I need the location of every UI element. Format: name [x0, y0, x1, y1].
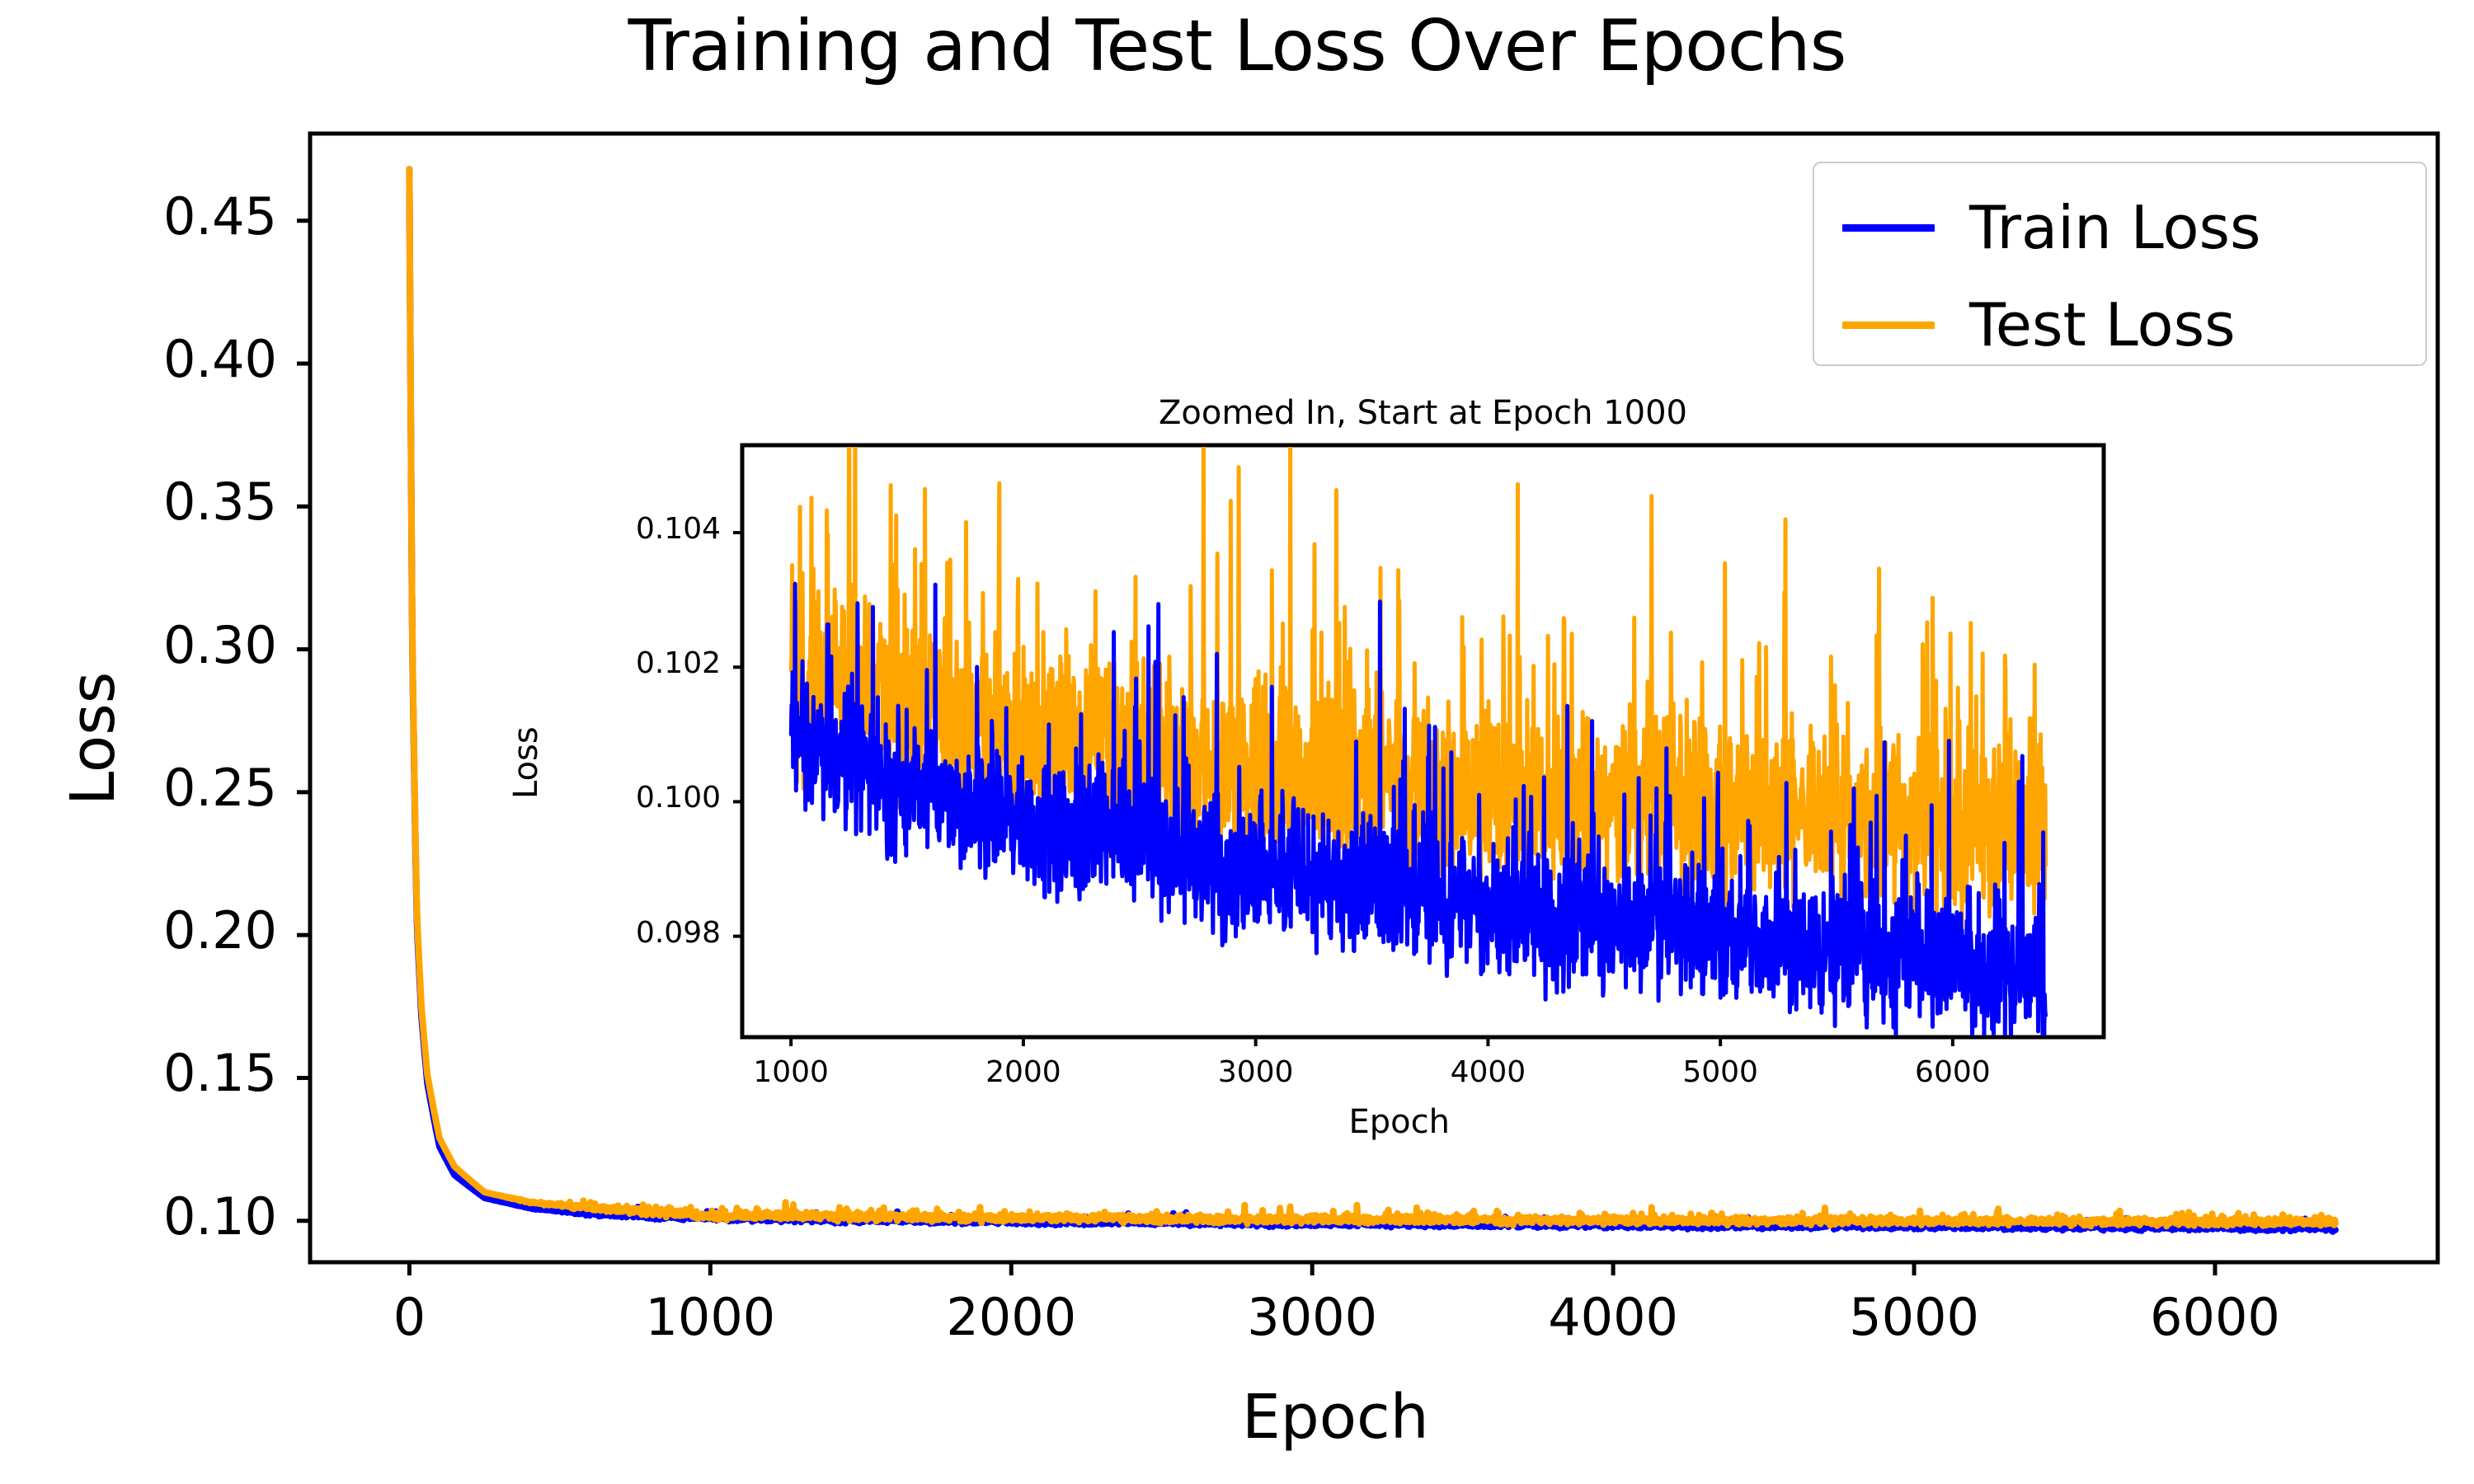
- inset-xtick-label: 3000: [1165, 1055, 1347, 1089]
- main-ytick-label: 0.15: [30, 1043, 277, 1103]
- legend-label: Train Loss: [1969, 193, 2261, 262]
- figure-root: Training and Test Loss Over Epochs 01000…: [0, 0, 2474, 1484]
- inset-xtick-label: 5000: [1630, 1055, 1811, 1089]
- inset-xtick-label: 6000: [1862, 1055, 2044, 1089]
- legend-label: Test Loss: [1969, 290, 2236, 359]
- inset-yaxis-label: Loss: [507, 726, 545, 799]
- legend-line-swatch: [1842, 322, 1935, 329]
- main-xtick-label: 4000: [1498, 1287, 1729, 1347]
- page-title: Training and Test Loss Over Epochs: [0, 5, 2474, 87]
- main-xtick-label: 3000: [1197, 1287, 1427, 1347]
- main-xtick-label: 1000: [595, 1287, 825, 1347]
- legend-item-train-loss[interactable]: Train Loss: [1842, 193, 2261, 262]
- legend-line-swatch: [1842, 224, 1935, 232]
- inset-xtick-label: 1000: [700, 1055, 882, 1089]
- main-ytick-label: 0.20: [30, 900, 277, 960]
- main-ytick-label: 0.10: [30, 1186, 277, 1247]
- main-ytick-label: 0.40: [30, 329, 277, 389]
- main-xtick-label: 2000: [896, 1287, 1126, 1347]
- inset-xaxis-label: Epoch: [1349, 1103, 1450, 1141]
- legend-item-test-loss[interactable]: Test Loss: [1842, 290, 2236, 359]
- main-xtick-label: 0: [294, 1287, 524, 1347]
- main-xtick-label: 6000: [2100, 1287, 2331, 1347]
- inset-ytick-label: 0.098: [523, 916, 721, 950]
- legend[interactable]: Train LossTest Loss: [1813, 162, 2427, 366]
- inset-ytick-label: 0.102: [523, 646, 721, 680]
- main-yaxis-label: Loss: [58, 671, 129, 805]
- main-xaxis-label: Epoch: [1242, 1382, 1429, 1453]
- inset-xtick-label: 4000: [1397, 1055, 1578, 1089]
- main-xtick-label: 5000: [1799, 1287, 2030, 1347]
- main-ytick-label: 0.30: [30, 615, 277, 675]
- inset-title: Zoomed In, Start at Epoch 1000: [742, 394, 2104, 432]
- inset-xtick-label: 2000: [933, 1055, 1114, 1089]
- inset-ytick-label: 0.104: [523, 512, 721, 546]
- main-ytick-label: 0.45: [30, 186, 277, 247]
- main-ytick-label: 0.35: [30, 472, 277, 532]
- inset-ytick-label: 0.100: [523, 781, 721, 815]
